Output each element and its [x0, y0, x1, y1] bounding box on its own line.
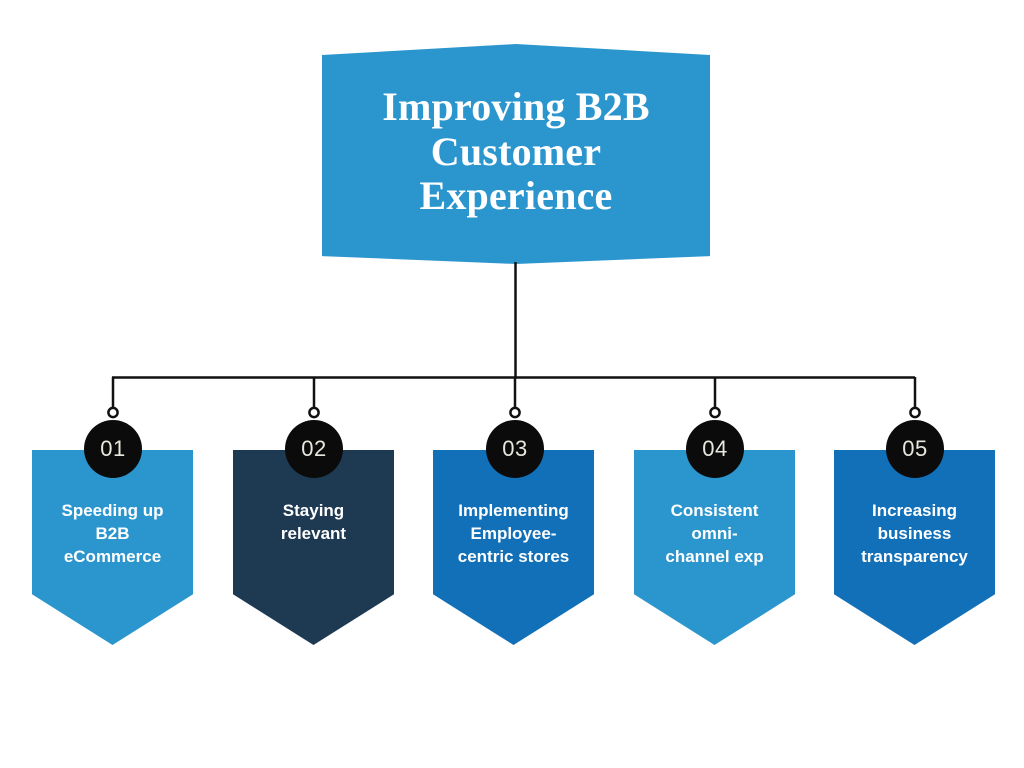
number-badge-text-2: 02: [301, 438, 326, 460]
connector-ring-1: [108, 408, 117, 417]
ribbon-label-3: Implementing Employee- centric stores: [458, 500, 570, 569]
number-badge-5: 05: [886, 420, 944, 478]
ribbon-item-4[interactable]: Consistent omni- channel exp: [634, 450, 795, 645]
number-badge-4: 04: [686, 420, 744, 478]
connector-ring-5: [910, 408, 919, 417]
number-badge-text-4: 04: [702, 438, 727, 460]
ribbon-item-3[interactable]: Implementing Employee- centric stores: [433, 450, 594, 645]
number-badge-1: 01: [84, 420, 142, 478]
ribbon-label-5: Increasing business transparency: [861, 500, 968, 569]
ribbon-item-2[interactable]: Staying relevant: [233, 450, 394, 645]
number-badge-text-3: 03: [502, 438, 527, 460]
ribbon-item-5[interactable]: Increasing business transparency: [834, 450, 995, 645]
number-badge-2: 02: [285, 420, 343, 478]
ribbon-label-4: Consistent omni- channel exp: [665, 500, 763, 569]
ribbon-label-2: Staying relevant: [281, 500, 346, 546]
number-badge-3: 03: [486, 420, 544, 478]
diagram-canvas: Improving B2B Customer Experience Speedi…: [0, 0, 1024, 768]
number-badge-text-5: 05: [902, 438, 927, 460]
diagram-title-text: Improving B2B Customer Experience: [382, 85, 649, 219]
connector-ring-2: [309, 408, 318, 417]
number-badge-text-1: 01: [100, 438, 125, 460]
ribbon-item-1[interactable]: Speeding up B2B eCommerce: [32, 450, 193, 645]
diagram-title-shape: Improving B2B Customer Experience: [322, 44, 710, 264]
ribbon-label-1: Speeding up B2B eCommerce: [62, 500, 164, 569]
connector-ring-3: [510, 408, 519, 417]
connector-ring-4: [710, 408, 719, 417]
